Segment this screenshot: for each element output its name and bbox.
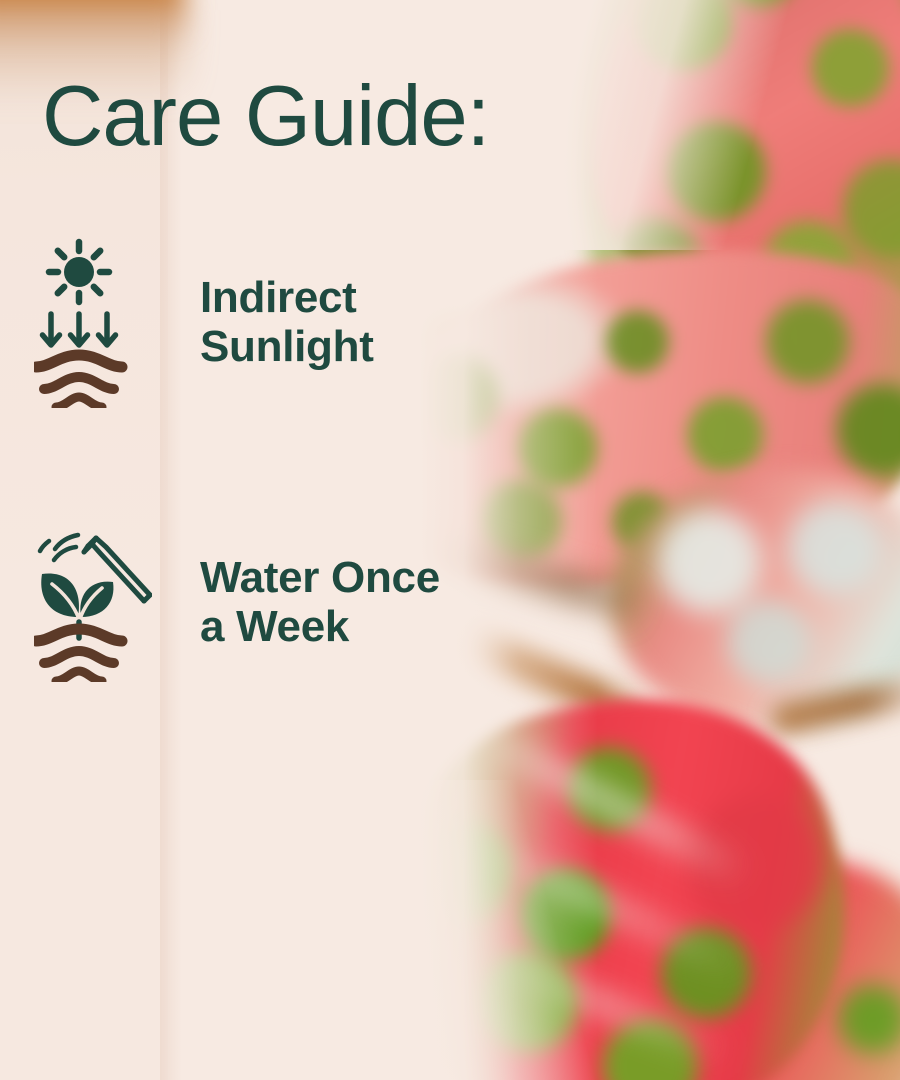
content-layer: Care Guide: — [0, 0, 900, 1080]
down-arrow-icon — [43, 314, 116, 345]
care-item-indirect-sunlight: Indirect Sunlight — [34, 236, 374, 408]
care-item-label: Indirect Sunlight — [200, 273, 374, 372]
care-guide-card: Care Guide: — [0, 0, 900, 1080]
page-title: Care Guide: — [42, 74, 489, 159]
care-item-water-once-a-week: Water Once a Week — [34, 522, 440, 682]
care-item-label: Water Once a Week — [200, 553, 440, 652]
sun-indirect-light-icon — [34, 236, 152, 408]
sun-icon — [49, 242, 109, 302]
water-spray-icon — [40, 535, 78, 560]
soil-waves-icon — [36, 355, 122, 407]
watering-can-plant-icon — [34, 522, 152, 682]
